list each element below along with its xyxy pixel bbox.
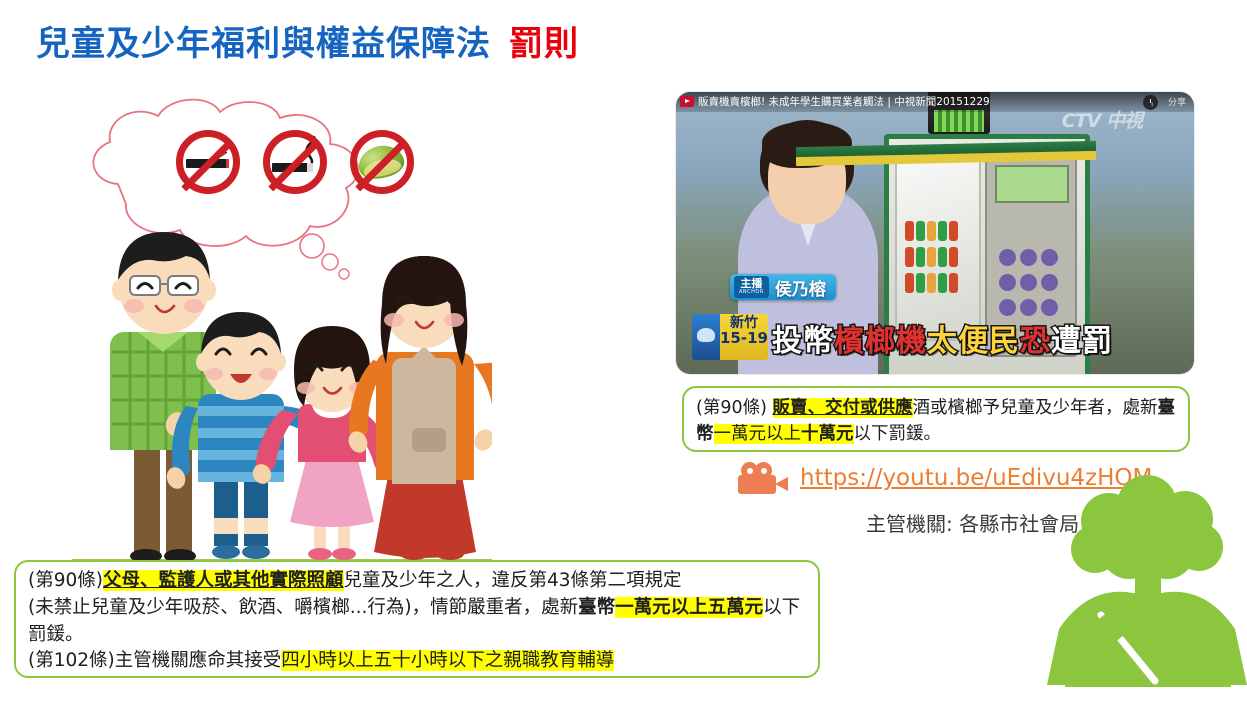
- weather-icon: [692, 314, 720, 360]
- anchor-role-tag: 主播 ANCHOR: [734, 276, 769, 298]
- no-smoking-icon: [263, 130, 327, 194]
- cb-hi3: 四小時以上五十小時以下之親職教育輔導: [281, 650, 614, 671]
- location-text: 新竹 15-19: [720, 314, 768, 360]
- watch-later-icon[interactable]: [1143, 95, 1158, 110]
- cr-seg2: 酒或檳榔予兒童及少年者，處新: [913, 398, 1158, 418]
- headline-part-2: 太便民: [927, 324, 1020, 359]
- cb-article2: (第102條): [28, 650, 115, 671]
- cr-seg1: 販賣、交付或供應: [773, 398, 913, 418]
- headline-part-1: 檳榔機: [834, 324, 927, 359]
- video-thumbnail[interactable]: 主播 ANCHOR 侯乃榕 新竹 15-19 投幣檳榔機太便民恐遭罰 販賣機賣檳…: [676, 92, 1194, 374]
- green-gavel-figure: [1047, 469, 1247, 701]
- play-badge-icon: [680, 96, 694, 107]
- no-ecigarette-icon: ⚡: [176, 130, 240, 194]
- cr-seg5: 十萬元: [801, 424, 854, 444]
- callout-article-90-102-bottom: (第90條)父母、監護人或其他實際照顧兒童及少年之人，違反第43條第二項規定 (…: [14, 560, 820, 678]
- cr-seg4: 一萬元以上: [714, 424, 802, 444]
- headline-part-0: 投幣: [772, 324, 834, 359]
- page-title-sub: 罰則: [509, 24, 579, 64]
- vending-machine-keypad: [997, 247, 1067, 322]
- ctv-watermark: CTV 中視: [1062, 106, 1142, 133]
- cb-hi2: 一萬元以上五萬元: [615, 597, 763, 618]
- anchor-name: 侯乃榕: [775, 275, 826, 300]
- slide-canvas: 兒童及少年福利與權益保障法罰則 ⚡: [0, 0, 1247, 701]
- page-title-main: 兒童及少年福利與權益保障法: [36, 24, 491, 64]
- page-title: 兒童及少年福利與權益保障法罰則: [36, 16, 579, 65]
- cb-rest1: 兒童及少年之人，違反第43條第二項規定: [344, 570, 682, 591]
- cb-line3a: 主管機關應命其接受: [115, 650, 282, 671]
- family-illustration: [72, 228, 492, 572]
- headline-part-4: 遭罰: [1051, 324, 1113, 359]
- vending-machine-screen: [995, 165, 1069, 203]
- cb-line2a: (未禁止兒童及少年吸菸、飲酒、嚼檳榔...行為)，情節嚴重者，處新: [28, 597, 578, 618]
- headline-part-3: 恐: [1020, 324, 1051, 359]
- location-badge: 新竹 15-19: [692, 314, 768, 360]
- no-betel-nut-icon: [350, 130, 414, 194]
- cb-hi1: 父母、監護人或其他實際照顧: [103, 570, 344, 591]
- share-label[interactable]: 分享: [1168, 95, 1186, 108]
- cb-line2b: 臺幣: [578, 597, 615, 618]
- callout-article-90-right: (第90條) 販賣、交付或供應酒或檳榔予兒童及少年者，處新臺幣一萬元以上十萬元以…: [682, 386, 1190, 452]
- vending-machine-window: [895, 147, 981, 341]
- movie-camera-icon: [738, 462, 788, 494]
- cr-seg6: 以下罰鍰。: [854, 424, 942, 444]
- video-title: 販賣機賣檳榔! 未成年學生購買業者觸法 | 中視新聞20151229: [698, 96, 990, 108]
- news-headline: 投幣檳榔機太便民恐遭罰: [772, 316, 1113, 360]
- anchor-nameplate: 主播 ANCHOR 侯乃榕: [730, 274, 836, 300]
- cr-article: (第90條): [696, 398, 773, 418]
- cb-article1: (第90條): [28, 570, 103, 591]
